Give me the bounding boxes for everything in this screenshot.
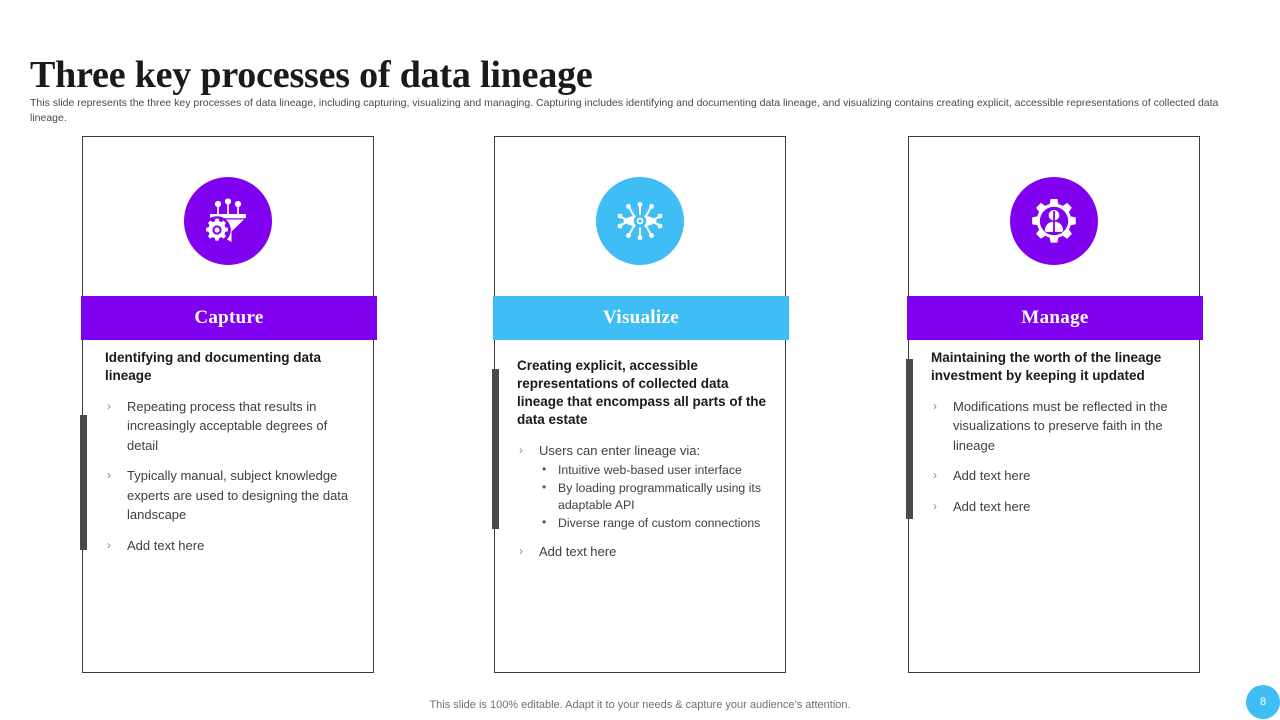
accent-bar-manage <box>906 359 913 519</box>
list-item: › Modifications must be reflected in the… <box>931 397 1185 456</box>
accent-bar-visualize <box>492 369 499 529</box>
slide-subtitle: This slide represents the three key proc… <box>30 96 1220 126</box>
band-manage: Manage <box>907 296 1203 340</box>
icon-circle-manage <box>1010 177 1098 265</box>
card-capture[interactable]: Capture Identifying and documenting data… <box>82 136 374 673</box>
card-body-visualize: Creating explicit, accessible representa… <box>495 357 787 573</box>
list-item[interactable]: › Add text here <box>105 536 359 556</box>
bullet-dot-icon: • <box>542 514 546 531</box>
chevron-right-icon: › <box>519 542 523 560</box>
chevron-right-icon: › <box>107 397 111 415</box>
bullet-dot-icon: • <box>542 479 546 496</box>
list-item: › Repeating process that results in incr… <box>105 397 359 456</box>
chevron-right-icon: › <box>933 397 937 415</box>
card-manage[interactable]: Manage Maintaining the worth of the line… <box>908 136 1200 673</box>
page-number-badge: 8 <box>1246 685 1280 719</box>
sub-list-item: • Diverse range of custom connections <box>539 515 771 532</box>
bullet-text-placeholder[interactable]: Add text here <box>539 544 616 559</box>
bullet-text: Users can enter lineage via: <box>539 443 700 458</box>
icon-circle-capture <box>184 177 272 265</box>
bullet-text: Repeating process that results in increa… <box>127 399 327 453</box>
list-item[interactable]: › Add text here <box>517 542 771 562</box>
card-body-capture: Identifying and documenting data lineage… <box>83 349 375 566</box>
sub-list-item: • Intuitive web-based user interface <box>539 462 771 479</box>
band-label-manage: Manage <box>1021 307 1088 329</box>
bullet-text-placeholder[interactable]: Add text here <box>953 468 1030 483</box>
footer-note: This slide is 100% editable. Adapt it to… <box>0 699 1280 711</box>
icon-wrap-visualize <box>495 177 785 265</box>
list-item[interactable]: › Add text here <box>931 497 1185 517</box>
accent-bar-capture <box>80 415 87 550</box>
bullet-text-placeholder[interactable]: Add text here <box>953 499 1030 514</box>
chevron-right-icon: › <box>107 536 111 554</box>
bullet-text-placeholder[interactable]: Add text here <box>127 538 204 553</box>
band-label-visualize: Visualize <box>603 307 679 329</box>
gear-person-icon <box>1026 193 1082 249</box>
card-body-manage: Maintaining the worth of the lineage inv… <box>909 349 1201 527</box>
sub-bullet-list: • Intuitive web-based user interface • B… <box>539 462 771 532</box>
funnel-gear-icon <box>200 193 256 249</box>
sub-bullet-text: By loading programmatically using its ad… <box>558 481 761 512</box>
band-capture: Capture <box>81 296 377 340</box>
page-title: Three key processes of data lineage <box>30 55 593 97</box>
sub-list-item: • By loading programmatically using its … <box>539 480 771 514</box>
bullet-list-capture: › Repeating process that results in incr… <box>105 397 359 556</box>
chevron-right-icon: › <box>933 466 937 484</box>
card-lead-capture: Identifying and documenting data lineage <box>105 349 359 385</box>
card-lead-manage: Maintaining the worth of the lineage inv… <box>931 349 1185 385</box>
page-number-label: 8 <box>1260 696 1266 708</box>
list-item: › Typically manual, subject knowledge ex… <box>105 466 359 525</box>
chevron-right-icon: › <box>933 497 937 515</box>
icon-wrap-capture <box>83 177 373 265</box>
card-visualize[interactable]: Visualize Creating explicit, accessible … <box>494 136 786 673</box>
card-lead-visualize: Creating explicit, accessible representa… <box>517 357 771 429</box>
sub-bullet-text: Intuitive web-based user interface <box>558 463 742 477</box>
bullet-text: Typically manual, subject knowledge expe… <box>127 468 348 522</box>
bullet-dot-icon: • <box>542 461 546 478</box>
bullet-list-visualize: › Users can enter lineage via: • Intuiti… <box>517 441 771 562</box>
bullet-list-manage: › Modifications must be reflected in the… <box>931 397 1185 517</box>
chevron-right-icon: › <box>107 466 111 484</box>
list-item: › Users can enter lineage via: • Intuiti… <box>517 441 771 532</box>
eye-network-icon <box>612 193 668 249</box>
icon-circle-visualize <box>596 177 684 265</box>
band-label-capture: Capture <box>194 307 263 329</box>
bullet-text: Modifications must be reflected in the v… <box>953 399 1168 453</box>
cards-container: Capture Identifying and documenting data… <box>0 136 1280 676</box>
band-visualize: Visualize <box>493 296 789 340</box>
list-item[interactable]: › Add text here <box>931 466 1185 486</box>
chevron-right-icon: › <box>519 441 523 459</box>
icon-wrap-manage <box>909 177 1199 265</box>
sub-bullet-text: Diverse range of custom connections <box>558 516 760 530</box>
